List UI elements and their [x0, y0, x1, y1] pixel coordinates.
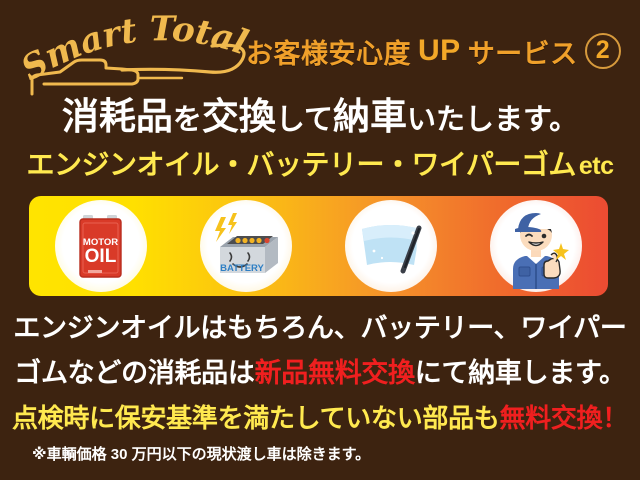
- header-tagline: お客様安心度 UP サービス 2: [246, 26, 621, 76]
- icon-cell-battery: BATTERY: [191, 196, 301, 296]
- header-text-after: サービス: [468, 32, 578, 71]
- logo-wordmark: Smart Total Service: [14, 6, 253, 89]
- svg-text:OIL: OIL: [85, 246, 117, 267]
- body-line-2-prefix: ゴムなどの消耗品は: [14, 358, 254, 388]
- subtitle-parts-list: エンジンオイル・バッテリー・ワイパーゴムetc: [0, 143, 640, 183]
- header-text-before: お客様安心度: [246, 32, 411, 71]
- body-line-3-highlight: 無料交換！: [500, 403, 629, 433]
- headline-part-5: 納車: [333, 96, 407, 137]
- icon-cell-mechanic: [481, 196, 591, 296]
- subtitle-etc: etc: [576, 152, 614, 180]
- headline-part-6: いたします。: [407, 104, 578, 136]
- body-line-2: ゴムなどの消耗品は新品無料交換にて納車します。: [0, 351, 640, 396]
- svg-text:BATTERY: BATTERY: [220, 263, 264, 274]
- headline-part-3: 交換: [202, 96, 276, 137]
- service-icons-panel: MOTOR OIL: [29, 196, 608, 296]
- badge-number-circle: 2: [585, 33, 621, 69]
- windshield-wiper-icon: [348, 203, 434, 289]
- page-title: 消耗品を交換して納車いたします。: [0, 86, 640, 140]
- icon-cell-wiper: [336, 196, 446, 296]
- headline-part-1: 消耗品: [62, 96, 173, 137]
- footnote-disclaimer: ※車輌価格 30 万円以下の現状渡し車は除きます。: [32, 443, 370, 464]
- mechanic-thumbs-up-icon: [493, 203, 579, 289]
- body-line-2-highlight: 新品無料交換: [255, 358, 415, 388]
- body-line-3: 点検時に保安基準を満たしていない部品も無料交換！: [0, 396, 640, 441]
- headline-part-4: して: [276, 104, 333, 136]
- body-line-1: エンジンオイルはもちろん、バッテリー、ワイパー: [0, 306, 640, 351]
- motor-oil-can-icon: MOTOR OIL: [58, 203, 144, 289]
- icon-cell-motor-oil: MOTOR OIL: [46, 196, 156, 296]
- header-emphasis-up: UP: [414, 34, 465, 68]
- subtitle-text: エンジンオイル・バッテリー・ワイパーゴム: [26, 149, 575, 180]
- headline-part-2: を: [173, 104, 202, 136]
- car-battery-icon: BATTERY: [203, 203, 289, 289]
- body-line-2-suffix: にて納車します。: [415, 358, 626, 388]
- body-copy: エンジンオイルはもちろん、バッテリー、ワイパー ゴムなどの消耗品は新品無料交換に…: [0, 306, 640, 441]
- advertisement-banner: Smart Total Service お客様安心度 UP サービス 2 消耗品…: [0, 0, 640, 480]
- body-line-3-text: 点検時に保安基準を満たしていない部品も: [12, 403, 500, 433]
